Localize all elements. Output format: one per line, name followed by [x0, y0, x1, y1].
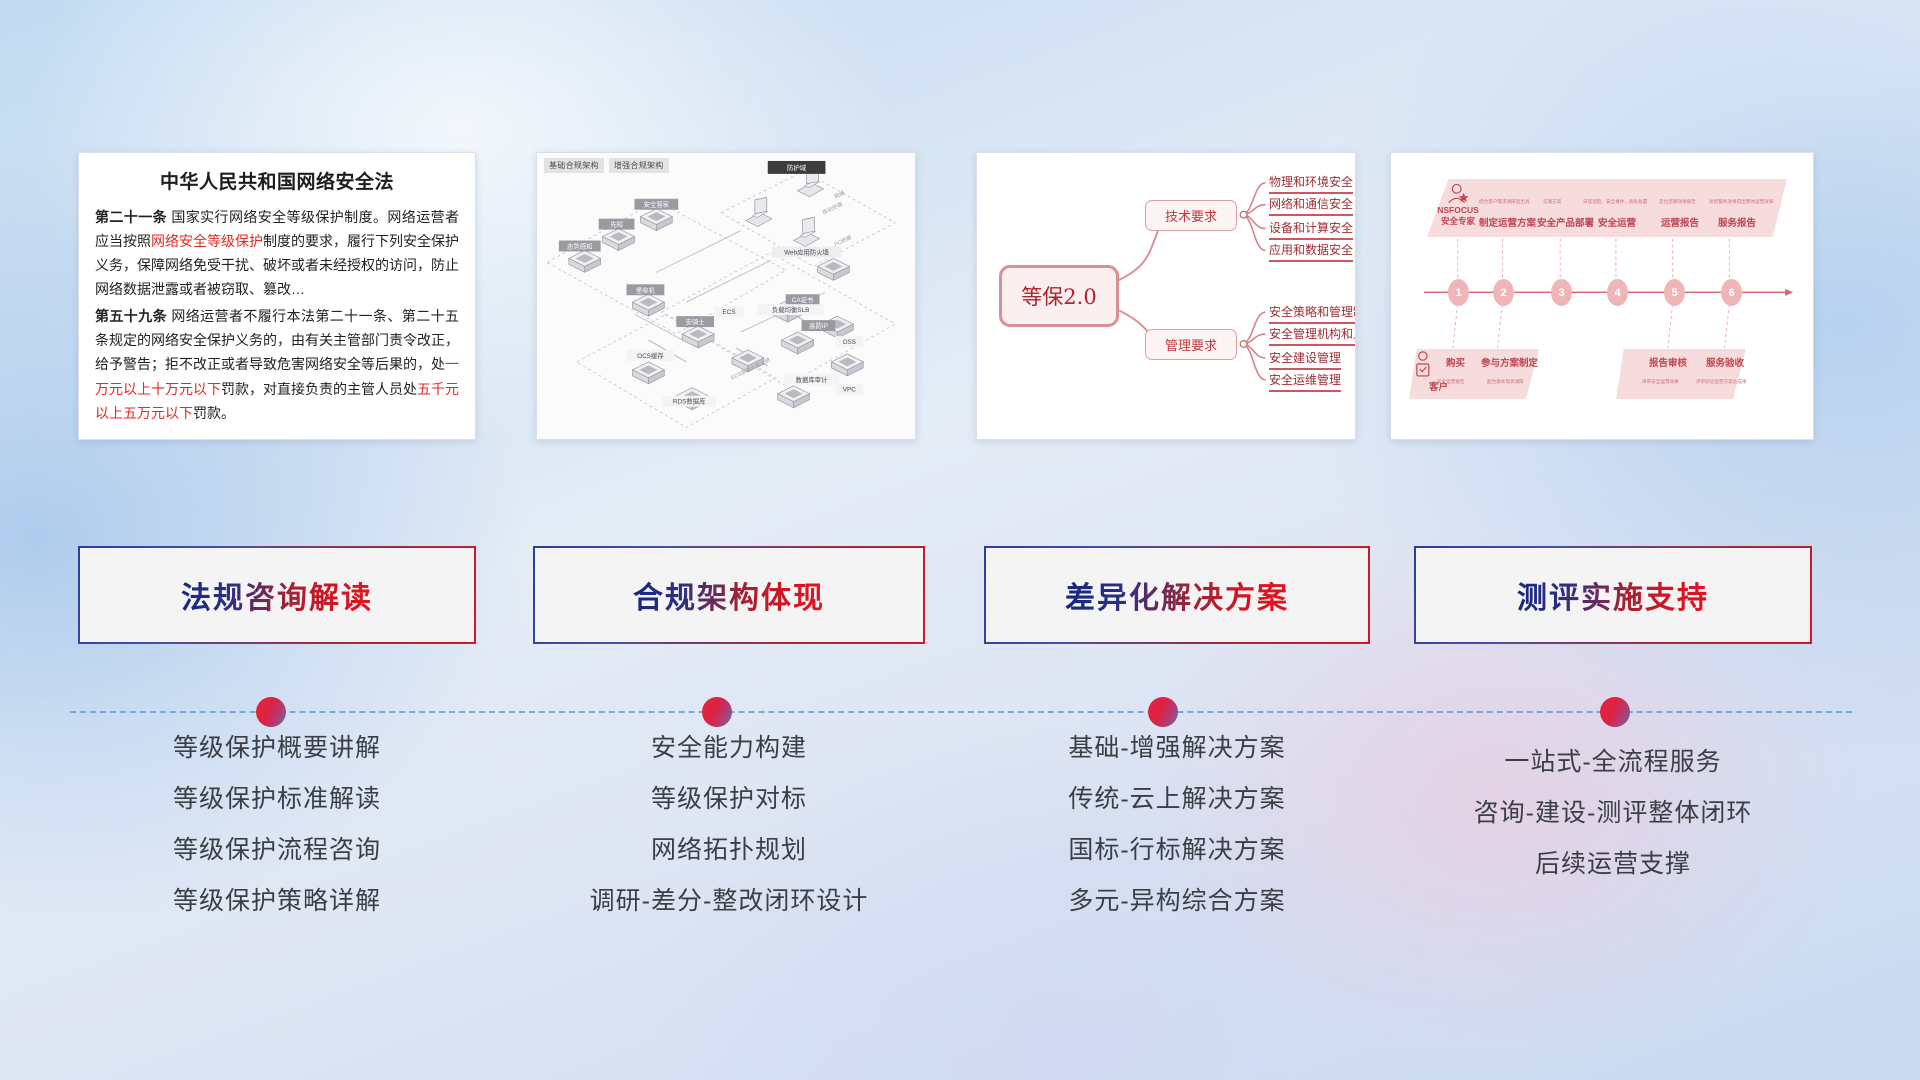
label-box-evaluation-support[interactable]: 测评实施支持 — [1414, 546, 1812, 644]
mindmap-leaf-tech-2[interactable]: 网络和通信安全 — [1269, 195, 1353, 216]
timeline-top-title-4: 运营报告 — [1661, 215, 1699, 229]
list-item: 等级保护流程咨询 — [78, 838, 476, 863]
architecture-diagram: 基础合规架构 增强合规架构 — [537, 153, 915, 439]
svg-text:防护域: 防护域 — [787, 163, 807, 172]
list-item: 调研-差分-整改闭环设计 — [533, 889, 925, 914]
law-document: 中华人民共和国网络安全法 第二十一条 国家实行网络安全等级保护制度。网络运营者应… — [79, 153, 475, 431]
timeline-bottom-sub-2: 配合基本现状调研 — [1487, 379, 1524, 385]
list-item: 传统-云上解决方案 — [984, 787, 1370, 812]
svg-text:网络: 网络 — [833, 188, 847, 200]
svg-text:移动终端: 移动终端 — [821, 200, 844, 217]
timeline-node-1[interactable]: 1 — [1448, 279, 1469, 306]
svg-text:安全管家: 安全管家 — [644, 200, 670, 209]
svg-text:ECS: ECS — [722, 309, 735, 316]
detail-column-evaluation-support: 一站式-全流程服务 咨询-建设-测评整体闭环 后续运营支撑 — [1414, 736, 1812, 877]
svg-text:先知: 先知 — [610, 220, 623, 229]
card-service-timeline[interactable]: NSFOCUS 安全专家 客户 结合客户需求调研后出具 制定运营方案 实施方案 … — [1390, 152, 1814, 440]
timeline-top-title-1: 制定运营方案 — [1479, 215, 1536, 229]
brand-line-1: NSFOCUS — [1431, 205, 1485, 216]
timeline-node-2[interactable]: 2 — [1493, 279, 1514, 306]
timeline-node-6[interactable]: 6 — [1721, 279, 1742, 306]
list-item: 一站式-全流程服务 — [1414, 750, 1812, 775]
brand-line-2: 安全专家 — [1431, 216, 1485, 227]
card-cloud-architecture[interactable]: 基础合规架构 增强合规架构 — [536, 152, 916, 440]
detail-columns-row: 等级保护概要讲解 等级保护标准解读 等级保护流程咨询 等级保护策略详解 安全能力… — [0, 736, 1920, 966]
svg-text:数据库审计: 数据库审计 — [796, 375, 828, 384]
mindmap-leaf-mgmt-4[interactable]: 安全运维管理 — [1269, 371, 1341, 392]
list-item: 等级保护策略详解 — [78, 889, 476, 914]
timeline-top-sub-1: 结合客户需求调研后出具 — [1479, 199, 1530, 205]
mindmap-leaf-tech-3[interactable]: 设备和计算安全 — [1269, 219, 1353, 240]
label-box-compliance-architecture[interactable]: 合规架构体现 — [533, 546, 925, 644]
list-item: 后续运营支撑 — [1414, 852, 1812, 877]
law-article-21: 第二十一条 国家实行网络安全等级保护制度。网络运营者应当按照网络安全等级保护制度… — [95, 205, 459, 301]
list-item: 等级保护标准解读 — [78, 787, 476, 812]
list-item: 国标-行标解决方案 — [984, 838, 1370, 863]
svg-text:Web应用防火墙: Web应用防火墙 — [784, 247, 829, 256]
timeline-top-sub-3: 日常巡检、安全事件、高危处置 — [1583, 199, 1647, 205]
timeline-bottom-title-3: 报告审核 — [1649, 355, 1687, 369]
svg-text:负载均衡SLB: 负载均衡SLB — [772, 305, 809, 314]
svg-text:OSS: OSS — [843, 339, 856, 346]
article-59-label: 第五十九条 — [95, 308, 167, 324]
list-item: 基础-增强解决方案 — [984, 736, 1370, 761]
svg-text:RDS数据库: RDS数据库 — [673, 397, 706, 406]
preview-cards-row: 中华人民共和国网络安全法 第二十一条 国家实行网络安全等级保护制度。网络运营者应… — [0, 152, 1920, 442]
timeline-top-sub-2: 实施方案 — [1543, 199, 1561, 205]
list-item: 多元-异构综合方案 — [984, 889, 1370, 914]
label-text-compliance-architecture: 合规架构体现 — [633, 573, 825, 617]
mindmap-leaf-mgmt-1[interactable]: 安全策略和管理制度 — [1269, 303, 1356, 324]
card-mindmap-dengbao[interactable]: 等保2.0 技术要求 管理要求 物理和环境安全 网络和通信安全 设备和计算安全 … — [976, 152, 1356, 440]
label-text-regulation-consulting: 法规咨询解读 — [181, 573, 373, 617]
card-cybersecurity-law[interactable]: 中华人民共和国网络安全法 第二十一条 国家实行网络安全等级保护制度。网络运营者应… — [78, 152, 476, 440]
article-21-highlight: 网络安全等级保护 — [151, 233, 263, 249]
label-text-evaluation-support: 测评实施支持 — [1517, 573, 1709, 617]
svg-text:VPC: VPC — [843, 387, 856, 394]
dashed-connector-line — [70, 711, 1852, 713]
timeline-dot-4 — [1600, 697, 1630, 727]
mindmap-leaf-tech-1[interactable]: 物理和环境安全 — [1269, 173, 1353, 194]
architecture-canvas: 态势感知 先知 安全管家 堡垒机 安骑士 防护域 CA证书 高防IP ECS O… — [537, 153, 915, 439]
timeline-dot-2 — [702, 697, 732, 727]
label-text-differentiated-solution: 差异化解决方案 — [1065, 573, 1289, 617]
list-item: 等级保护概要讲解 — [78, 736, 476, 761]
label-box-differentiated-solution[interactable]: 差异化解决方案 — [984, 546, 1370, 644]
law-title: 中华人民共和国网络安全法 — [95, 167, 459, 194]
timeline-diagram: NSFOCUS 安全专家 客户 结合客户需求调研后出具 制定运营方案 实施方案 … — [1391, 153, 1813, 439]
svg-text:堡垒机: 堡垒机 — [636, 285, 656, 294]
mindmap-leaf-mgmt-3[interactable]: 安全建设管理 — [1269, 349, 1341, 370]
law-article-59: 第五十九条 网络运营者不履行本法第二十一条、第二十五条规定的网络安全保护义务的，… — [95, 304, 459, 424]
timeline-bottom-title-1: 购买 — [1446, 355, 1465, 369]
svg-text:OCS缓存: OCS缓存 — [637, 351, 664, 360]
timeline-bottom-title-2: 参与方案制定 — [1481, 355, 1538, 369]
timeline-bottom-title-4: 服务验收 — [1706, 355, 1744, 369]
list-item: 咨询-建设-测评整体闭环 — [1414, 801, 1812, 826]
svg-text:安骑士: 安骑士 — [686, 317, 706, 326]
timeline-dot-3 — [1148, 697, 1178, 727]
svg-text:高防IP: 高防IP — [809, 321, 828, 330]
svg-text:CA证书: CA证书 — [792, 295, 814, 304]
timeline-bottom-sub-4: 评审验证运营方案达成果 — [1696, 379, 1747, 385]
label-box-regulation-consulting[interactable]: 法规咨询解读 — [78, 546, 476, 644]
timeline-dot-1 — [256, 697, 286, 727]
svg-text:PC终端: PC终端 — [833, 233, 853, 248]
detail-column-regulation-consulting: 等级保护概要讲解 等级保护标准解读 等级保护流程咨询 等级保护策略详解 — [78, 736, 476, 914]
mindmap-branch-management[interactable]: 管理要求 — [1145, 329, 1237, 360]
mindmap-diagram: 等保2.0 技术要求 管理要求 物理和环境安全 网络和通信安全 设备和计算安全 … — [977, 153, 1355, 439]
timeline-bottom-sub-3: 评审安全运营效果 — [1642, 379, 1679, 385]
timeline-top-title-2: 安全产品部署 — [1537, 215, 1594, 229]
detail-column-differentiated-solution: 基础-增强解决方案 传统-云上解决方案 国标-行标解决方案 多元-异构综合方案 — [984, 736, 1370, 914]
timeline-top-sub-4: 定位定期效果报告 — [1659, 199, 1696, 205]
timeline-connector — [0, 693, 1920, 733]
mindmap-root-node[interactable]: 等保2.0 — [999, 265, 1119, 327]
timeline-top-sub-5: 总结服务效果得出整体运营效果 — [1709, 199, 1773, 205]
timeline-node-4[interactable]: 4 — [1607, 279, 1628, 306]
timeline-top-title-3: 安全运营 — [1598, 215, 1636, 229]
article-59-post: 罚款。 — [193, 405, 235, 421]
mindmap-branch-technical[interactable]: 技术要求 — [1145, 200, 1237, 231]
mindmap-leaf-mgmt-2[interactable]: 安全管理机构和人员 — [1269, 325, 1356, 346]
detail-column-compliance-architecture: 安全能力构建 等级保护对标 网络拓扑规划 调研-差分-整改闭环设计 — [533, 736, 925, 914]
list-item: 等级保护对标 — [533, 787, 925, 812]
timeline-node-3[interactable]: 3 — [1551, 279, 1572, 306]
svg-text:态势感知: 态势感知 — [567, 241, 592, 250]
timeline-top-title-5: 服务报告 — [1718, 215, 1756, 229]
timeline-node-5[interactable]: 5 — [1664, 279, 1685, 306]
mindmap-leaf-tech-4[interactable]: 应用和数据安全 — [1269, 241, 1353, 262]
article-21-label: 第二十一条 — [95, 209, 167, 225]
timeline-bottom-sub-1: 安全运营报告 — [1437, 379, 1465, 385]
list-item: 网络拓扑规划 — [533, 838, 925, 863]
timeline-brand: NSFOCUS 安全专家 — [1431, 205, 1485, 226]
category-labels-row: 法规咨询解读 合规架构体现 差异化解决方案 测评实施支持 — [0, 546, 1920, 646]
list-item: 安全能力构建 — [533, 736, 925, 761]
article-59-mid: 罚款，对直接负责的主管人员处 — [221, 381, 417, 397]
